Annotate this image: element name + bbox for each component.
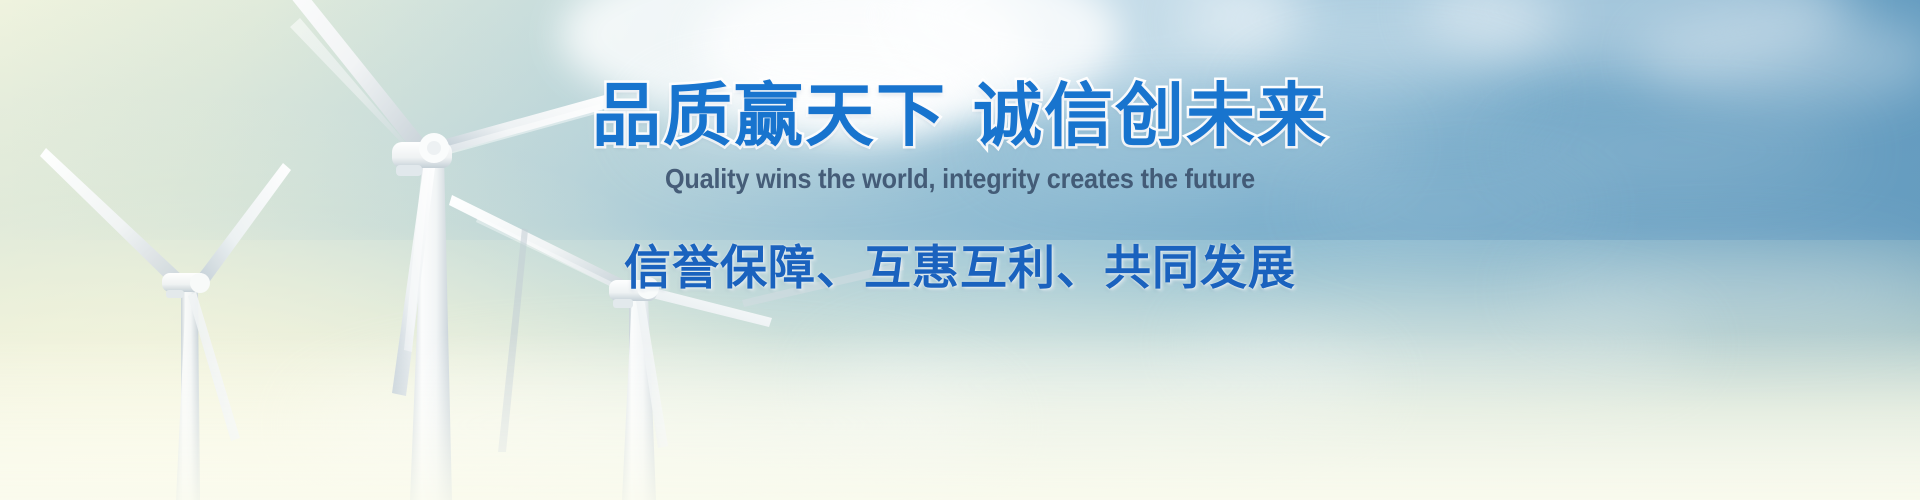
turbine-hub bbox=[637, 277, 659, 299]
wind-turbine-scene bbox=[0, 0, 1920, 500]
turbine-blade-highlight bbox=[290, 18, 416, 158]
turbine-blade bbox=[196, 163, 291, 292]
turbine-blade-highlight bbox=[444, 104, 603, 155]
turbine-blade bbox=[742, 262, 904, 307]
turbine-nacelle-vent bbox=[613, 299, 633, 308]
turbine-hub-center bbox=[427, 141, 441, 155]
turbine-blade bbox=[644, 286, 772, 327]
bottom-haze-overlay bbox=[0, 330, 1920, 500]
wind-turbines-illustration bbox=[0, 0, 1920, 500]
turbine-nacelle-vent bbox=[396, 165, 422, 176]
turbine-blade-highlight bbox=[476, 216, 624, 292]
turbine-hub bbox=[190, 273, 210, 293]
turbine-blade bbox=[40, 148, 185, 291]
promo-banner: 品质赢天下 诚信创未来 Quality wins the world, inte… bbox=[0, 0, 1920, 500]
turbine-nacelle-vent bbox=[166, 290, 184, 298]
